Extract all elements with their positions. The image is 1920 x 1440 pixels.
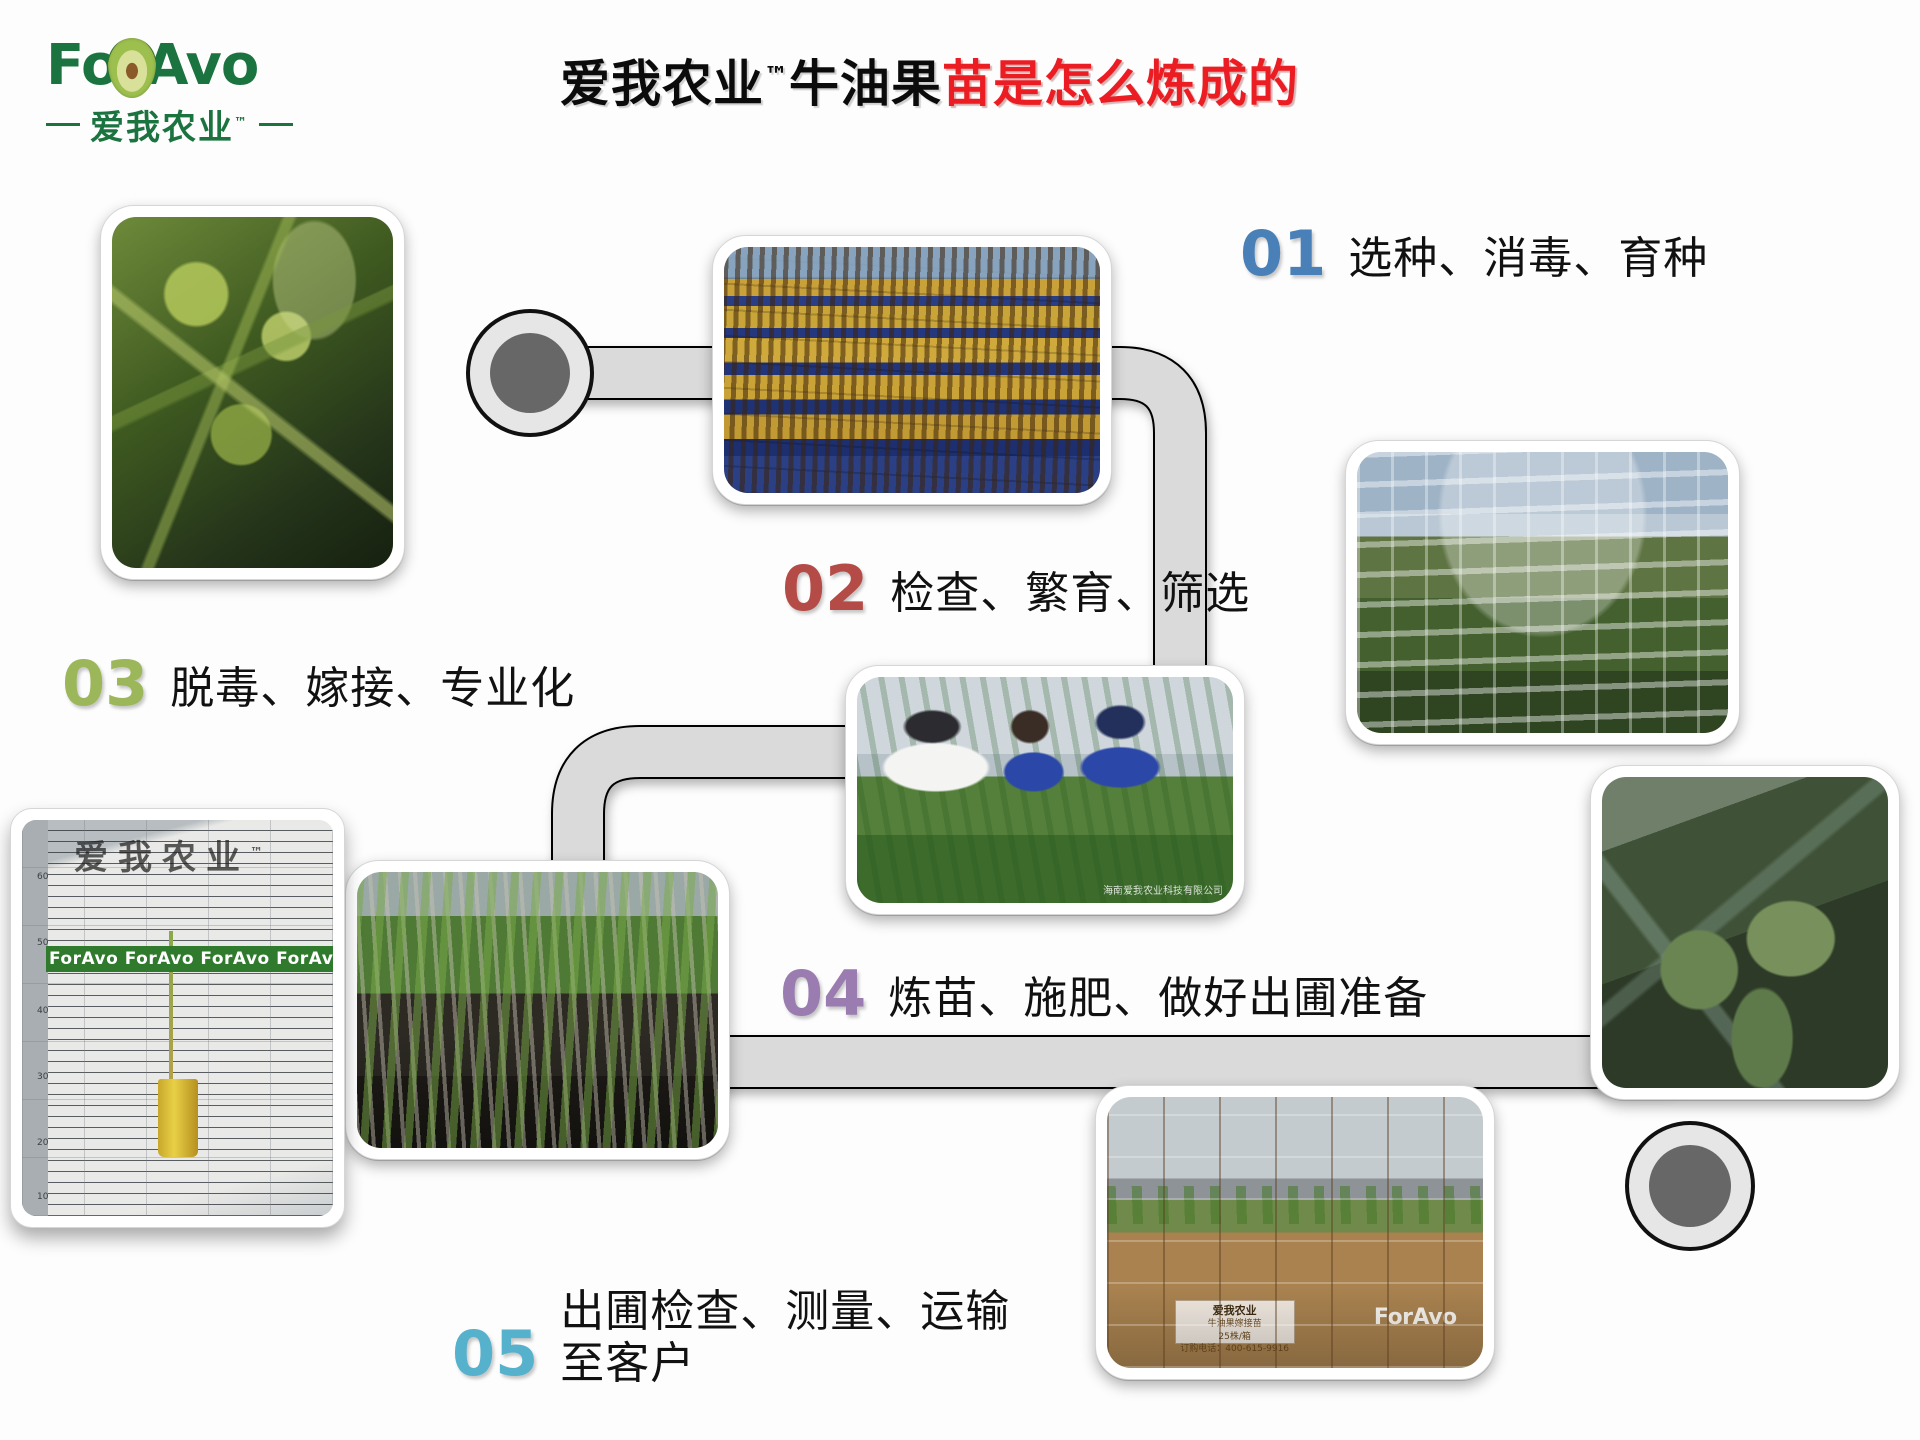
step-01-number: 01 xyxy=(1240,225,1326,284)
step-03-text: 脱毒、嫁接、专业化 xyxy=(170,655,575,715)
seedling-photo-watermark: 爱我农业 xyxy=(74,838,250,878)
flow-start-node-core xyxy=(490,333,570,413)
logo-trademark: ™ xyxy=(234,116,249,131)
inspection-team-image: 海南爱我农业科技有限公司 xyxy=(857,677,1233,903)
step-02-text: 检查、繁育、筛选 xyxy=(890,560,1250,620)
avocado-fruit-image xyxy=(1602,777,1888,1088)
flow-start-node xyxy=(468,311,592,435)
packed-shipping-boxes-photo: 爱我农业 牛油果嫁接苗 25株/箱 订购电话：400-615-9916 ForA… xyxy=(1095,1085,1495,1380)
potted-seedlings-photo xyxy=(345,860,730,1160)
step-01-text: 选种、消毒、育种 xyxy=(1348,225,1708,285)
infographic-canvas: ForAvo 爱我农业™ 爱我农业™牛油果苗是怎么炼成的 海南爱我农业科技有限公… xyxy=(0,0,1920,1440)
seedling-photo-brand-band: ForAvo ForAvo ForAvo ForAvo xyxy=(46,946,333,972)
avocado-flower-photo xyxy=(100,205,405,580)
flow-end-node xyxy=(1627,1123,1753,1249)
step-05-number: 05 xyxy=(452,1325,538,1390)
avocado-fruit-photo xyxy=(1590,765,1900,1100)
page-title-red-part: 苗是怎么炼成的 xyxy=(942,55,1299,113)
flow-end-node-core xyxy=(1649,1145,1731,1227)
step-04-number: 04 xyxy=(780,965,866,1024)
box-side-logo: ForAvo xyxy=(1374,1305,1457,1330)
logo-chinese-name: 爱我农业 xyxy=(90,108,234,148)
step-03-number: 03 xyxy=(62,655,148,714)
logo-rule-right xyxy=(259,123,293,126)
photo-credit: 海南爱我农业科技有限公司 xyxy=(1103,882,1223,897)
step-02-label: 02 检查、繁育、筛选 xyxy=(782,560,1250,620)
measured-seedling-image: 爱我农业™ 605040 302010 ForAvo ForAvo ForAvo… xyxy=(22,820,333,1216)
shipping-box-label: 爱我农业 牛油果嫁接苗 25株/箱 订购电话：400-615-9916 xyxy=(1175,1300,1295,1344)
brand-logo: ForAvo 爱我农业™ xyxy=(46,36,346,146)
ruler-scale: 605040 302010 xyxy=(24,820,50,1216)
page-title-black-part: 爱我农业 xyxy=(560,55,764,113)
seedling-pot xyxy=(158,1079,198,1157)
avocado-flower-image xyxy=(112,217,393,568)
potted-seedlings-image xyxy=(357,872,718,1148)
step-01-label: 01 选种、消毒、育种 xyxy=(1240,225,1708,285)
seed-germination-trays-image xyxy=(724,247,1100,493)
packed-shipping-boxes-image: 爱我农业 牛油果嫁接苗 25株/箱 订购电话：400-615-9916 ForA… xyxy=(1107,1097,1483,1368)
box-quantity: 25株/箱 xyxy=(1218,1332,1251,1342)
inspection-team-photo: 海南爱我农业科技有限公司 xyxy=(845,665,1245,915)
step-05-text-line2: 至客户 xyxy=(560,1338,695,1389)
step-02-number: 02 xyxy=(782,560,868,619)
logo-rule-left xyxy=(46,123,80,126)
seedling-photo-watermark-tm: ™ xyxy=(250,846,263,861)
step-04-label: 04 炼苗、施肥、做好出圃准备 xyxy=(780,965,1428,1025)
greenhouse-grafting-image xyxy=(1357,452,1728,733)
box-phone: 订购电话：400-615-9916 xyxy=(1180,1344,1289,1354)
page-title-tm: ™ xyxy=(764,61,789,89)
greenhouse-grafting-photo xyxy=(1345,440,1740,745)
page-title: 爱我农业™牛油果苗是怎么炼成的 xyxy=(560,44,1460,116)
seed-germination-trays-photo xyxy=(712,235,1112,505)
page-title-black-part2: 牛油果 xyxy=(789,55,942,113)
box-brand: 爱我农业 xyxy=(1213,1304,1257,1317)
step-05-text-line1: 出圃检查、测量、运输 xyxy=(560,1286,1010,1337)
measured-seedling-photo: 爱我农业™ 605040 302010 ForAvo ForAvo ForAvo… xyxy=(10,808,345,1228)
step-03-label: 03 脱毒、嫁接、专业化 xyxy=(62,655,575,715)
step-05-label: 05 出圃检查、测量、运输 至客户 xyxy=(452,1278,1010,1390)
box-product: 牛油果嫁接苗 xyxy=(1208,1319,1262,1329)
step-04-text: 炼苗、施肥、做好出圃准备 xyxy=(888,965,1428,1025)
